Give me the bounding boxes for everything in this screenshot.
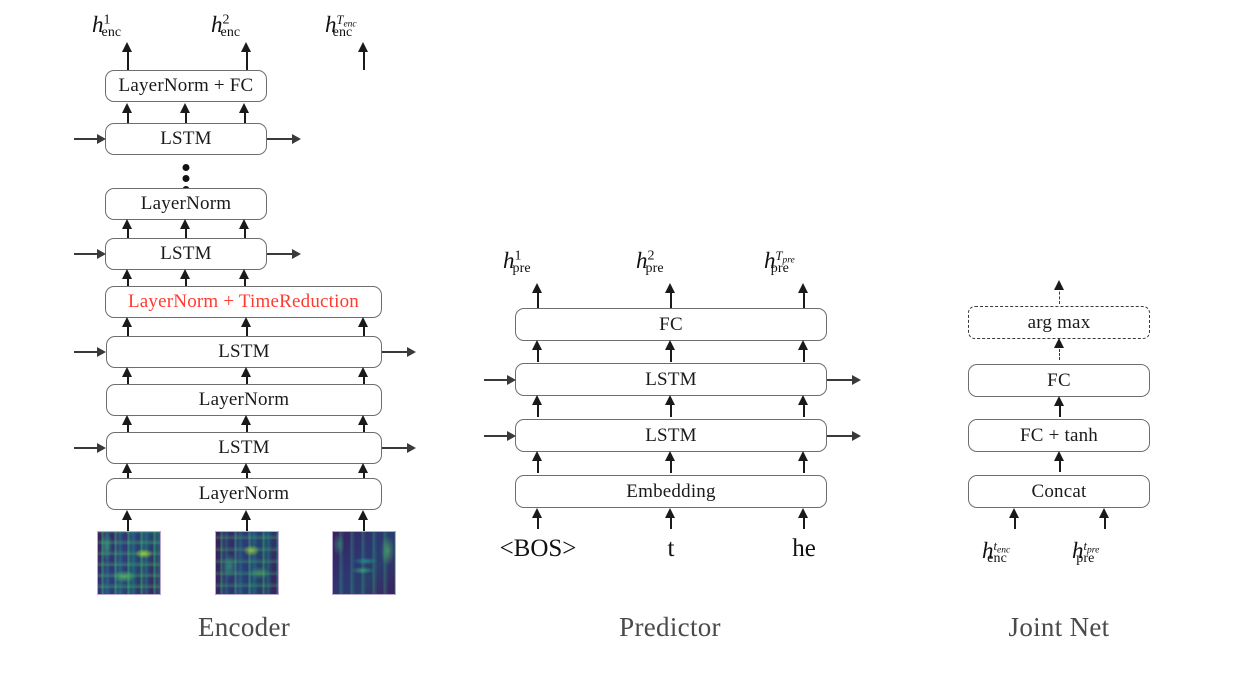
encoder-layer-layernorm-1[interactable]: LayerNorm — [106, 478, 382, 510]
column-label-predictor: Predictor — [619, 612, 721, 643]
jointnet-layer-fc[interactable]: FC — [968, 364, 1150, 397]
recurrent-in-pre-lstm-2 — [484, 379, 508, 381]
encoder-layer-lstm-top[interactable]: LSTM — [105, 123, 267, 155]
encoder-layer-lstm-2[interactable]: LSTM — [106, 336, 382, 368]
arrowhead-enc-ln1-3 — [358, 463, 368, 473]
arrowhead-pre-lstm2-3 — [798, 340, 808, 350]
diagram-canvas: h1enc h2enc hTencenc LayerNorm + FC LSTM… — [0, 0, 1251, 678]
spectrogram-input-1 — [97, 531, 161, 595]
encoder-layer-layernorm-mid[interactable]: LayerNorm — [105, 188, 267, 220]
jointnet-input-pre: htprepre — [1072, 538, 1094, 567]
predictor-layer-lstm-1[interactable]: LSTM — [515, 419, 827, 452]
arrowhead-enc-ln2-2 — [241, 367, 251, 377]
arrowhead-recurrent-in-pre-lstm-1 — [507, 431, 516, 441]
jointnet-layer-fc-tanh[interactable]: FC + tanh — [968, 419, 1150, 452]
arrowhead-enc-ln1-1 — [122, 463, 132, 473]
arrowhead-pre-lstm1-2 — [665, 395, 675, 405]
jointnet-layer-concat[interactable]: Concat — [968, 475, 1150, 508]
encoder-output-2: h2enc — [211, 12, 240, 41]
arrowhead-enc-ln2-1 — [122, 367, 132, 377]
arrowhead-enc-spec-2 — [241, 510, 251, 520]
arrowhead-recurrent-out-lstm-mid — [292, 249, 301, 259]
arrowhead-enc-lstmmid-1 — [122, 219, 132, 229]
arrowhead-enc-lstm1-2 — [241, 415, 251, 425]
arrow-pre-out-2 — [670, 290, 672, 310]
arrowhead-recurrent-out-pre-lstm-2 — [852, 375, 861, 385]
arrowhead-enc-ln2-3 — [358, 367, 368, 377]
arrowhead-pre-in-1 — [532, 508, 542, 518]
arrowhead-enc-lstm2-3 — [358, 317, 368, 327]
arrowhead-enc-out-3 — [358, 42, 368, 52]
encoder-layer-lstm-1[interactable]: LSTM — [106, 432, 382, 464]
arrowhead-pre-emb-1 — [532, 451, 542, 461]
arrowhead-recurrent-out-pre-lstm-1 — [852, 431, 861, 441]
predictor-output-T: hTprepre — [764, 248, 789, 277]
arrowhead-enc-lstmtop-1 — [122, 103, 132, 113]
arrow-pre-out-1 — [537, 290, 539, 310]
arrowhead-pre-out-2 — [665, 283, 675, 293]
spectrogram-input-2 — [215, 531, 279, 595]
arrowhead-recurrent-out-lstm-top — [292, 134, 301, 144]
arrowhead-pre-in-3 — [798, 508, 808, 518]
arrowhead-pre-lstm1-1 — [532, 395, 542, 405]
predictor-input-token-2: t — [668, 535, 675, 563]
arrowhead-enc-red-2 — [180, 269, 190, 279]
encoder-output-T: hTencenc — [325, 12, 352, 41]
arrowhead-recurrent-in-lstm-1 — [97, 443, 106, 453]
predictor-layer-embedding[interactable]: Embedding — [515, 475, 827, 508]
recurrent-out-pre-lstm-2 — [827, 379, 853, 381]
recurrent-out-lstm-1 — [382, 447, 408, 449]
arrowhead-enc-spec-1 — [122, 510, 132, 520]
predictor-layer-fc[interactable]: FC — [515, 308, 827, 341]
encoder-layer-layernorm-2[interactable]: LayerNorm — [106, 384, 382, 416]
recurrent-in-pre-lstm-1 — [484, 435, 508, 437]
arrowhead-recurrent-in-lstm-2 — [97, 347, 106, 357]
arrowhead-recurrent-out-lstm-2 — [407, 347, 416, 357]
arrowhead-enc-red-1 — [122, 269, 132, 279]
encoder-layer-lstm-mid[interactable]: LSTM — [105, 238, 267, 270]
recurrent-in-lstm-2 — [74, 351, 98, 353]
arrowhead-pre-emb-3 — [798, 451, 808, 461]
arrowhead-enc-out-1 — [122, 42, 132, 52]
arrowhead-pre-lstm1-3 — [798, 395, 808, 405]
encoder-layer-layernorm-timereduction[interactable]: LayerNorm + TimeReduction — [105, 286, 382, 318]
arrowhead-enc-lstm1-3 — [358, 415, 368, 425]
column-label-encoder: Encoder — [198, 612, 290, 643]
recurrent-out-lstm-2 — [382, 351, 408, 353]
arrowhead-joint-fctanh-fc — [1054, 396, 1064, 406]
arrowhead-joint-in-enc — [1009, 508, 1019, 518]
predictor-output-2: h2pre — [636, 248, 664, 277]
arrowhead-enc-red-3 — [239, 269, 249, 279]
predictor-layer-lstm-2[interactable]: LSTM — [515, 363, 827, 396]
arrowhead-enc-lstmtop-2 — [180, 103, 190, 113]
arrowhead-enc-spec-3 — [358, 510, 368, 520]
column-label-jointnet: Joint Net — [1009, 612, 1110, 643]
recurrent-in-lstm-1 — [74, 447, 98, 449]
arrowhead-joint-concat-fctanh — [1054, 451, 1064, 461]
arrow-pre-out-3 — [803, 290, 805, 310]
arrowhead-pre-out-3 — [798, 283, 808, 293]
arrowhead-pre-emb-2 — [665, 451, 675, 461]
arrowhead-enc-lstm2-2 — [241, 317, 251, 327]
jointnet-input-enc: htencenc — [982, 538, 1007, 567]
arrowhead-enc-lstmtop-3 — [239, 103, 249, 113]
arrowhead-enc-ln1-2 — [241, 463, 251, 473]
spectrogram-input-3 — [332, 531, 396, 595]
arrowhead-joint-fc-argmax — [1054, 338, 1064, 348]
arrowhead-enc-lstmmid-3 — [239, 219, 249, 229]
arrowhead-enc-lstmmid-2 — [180, 219, 190, 229]
arrowhead-enc-lstm1-1 — [122, 415, 132, 425]
predictor-input-token-1: <BOS> — [500, 535, 577, 563]
arrowhead-joint-in-pre — [1099, 508, 1109, 518]
encoder-output-1: h1enc — [92, 12, 121, 41]
arrowhead-pre-in-2 — [665, 508, 675, 518]
arrowhead-recurrent-out-lstm-1 — [407, 443, 416, 453]
recurrent-in-lstm-top — [74, 138, 98, 140]
arrowhead-pre-lstm2-1 — [532, 340, 542, 350]
jointnet-layer-argmax[interactable]: arg max — [968, 306, 1150, 339]
recurrent-out-lstm-top — [267, 138, 293, 140]
arrowhead-joint-argmax-out — [1054, 280, 1064, 290]
arrow-enc-out-3 — [363, 50, 365, 70]
predictor-input-token-3: he — [792, 535, 816, 563]
predictor-output-1: h1pre — [503, 248, 531, 277]
arrowhead-enc-lstm2-1 — [122, 317, 132, 327]
arrow-enc-out-1 — [127, 50, 129, 70]
recurrent-in-lstm-mid — [74, 253, 98, 255]
arrowhead-recurrent-in-pre-lstm-2 — [507, 375, 516, 385]
arrowhead-pre-out-1 — [532, 283, 542, 293]
arrow-enc-out-2 — [246, 50, 248, 70]
arrowhead-pre-lstm2-2 — [665, 340, 675, 350]
arrowhead-enc-out-2 — [241, 42, 251, 52]
encoder-layer-layernorm-fc[interactable]: LayerNorm + FC — [105, 70, 267, 102]
arrowhead-recurrent-in-lstm-top — [97, 134, 106, 144]
recurrent-out-pre-lstm-1 — [827, 435, 853, 437]
recurrent-out-lstm-mid — [267, 253, 293, 255]
arrowhead-recurrent-in-lstm-mid — [97, 249, 106, 259]
